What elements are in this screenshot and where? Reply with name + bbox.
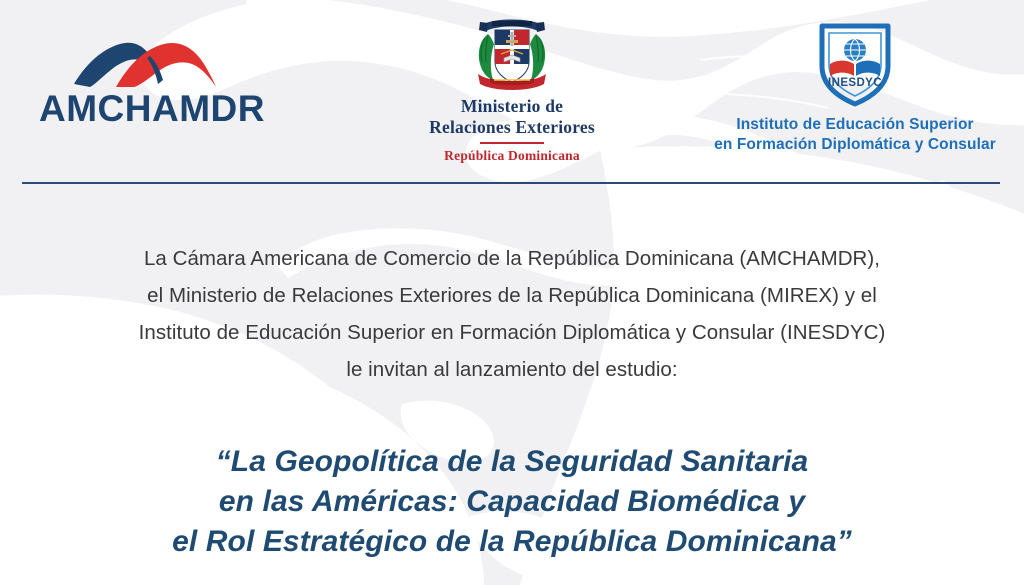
mirex-name-line1: Ministerio de [392,96,632,117]
study-title-line-1: “La Geopolítica de la Seguridad Sanitari… [62,442,962,482]
mirex-name: Ministerio de Relaciones Exteriores [392,96,632,137]
logo-band: AMCHAMDR [0,0,1024,178]
amchamdr-logo: AMCHAMDR [22,40,282,140]
amchamdr-swoosh-icon [72,40,217,88]
mirex-name-line2: Relaciones Exteriores [392,117,632,138]
invitation-line-1: La Cámara Americana de Comercio de la Re… [62,240,962,277]
mirex-logo: Ministerio de Relaciones Exteriores Repú… [392,14,632,164]
inesdyc-name: Instituto de Educación Superior en Forma… [700,115,1010,155]
mirex-country: República Dominicana [392,148,632,164]
invitation-line-3: Instituto de Educación Superior en Forma… [62,314,962,351]
invitation-paragraph: La Cámara Americana de Comercio de la Re… [62,240,962,388]
svg-text:INESDYC: INESDYC [828,77,882,89]
invitation-line-4: le invitan al lanzamiento del estudio: [62,351,962,388]
invitation-poster: AMCHAMDR [0,0,1024,585]
inesdyc-name-line1: Instituto de Educación Superior [700,115,1010,135]
inesdyc-logo: INESDYC Instituto de Educación Superior … [700,16,1010,166]
inesdyc-name-line2: en Formación Diplomática y Consular [700,135,1010,155]
study-title-line-2: en las Américas: Capacidad Biomédica y [62,482,962,522]
amchamdr-wordmark: AMCHAMDR [22,90,282,127]
study-title-line-3: el Rol Estratégico de la República Domin… [62,522,962,562]
dominican-coat-of-arms-icon [468,14,556,92]
mirex-divider-rule [480,142,544,144]
inesdyc-shield-icon: INESDYC [814,16,896,108]
invitation-line-2: el Ministerio de Relaciones Exteriores d… [62,277,962,314]
study-title: “La Geopolítica de la Seguridad Sanitari… [62,442,962,562]
header-divider [22,182,1000,184]
